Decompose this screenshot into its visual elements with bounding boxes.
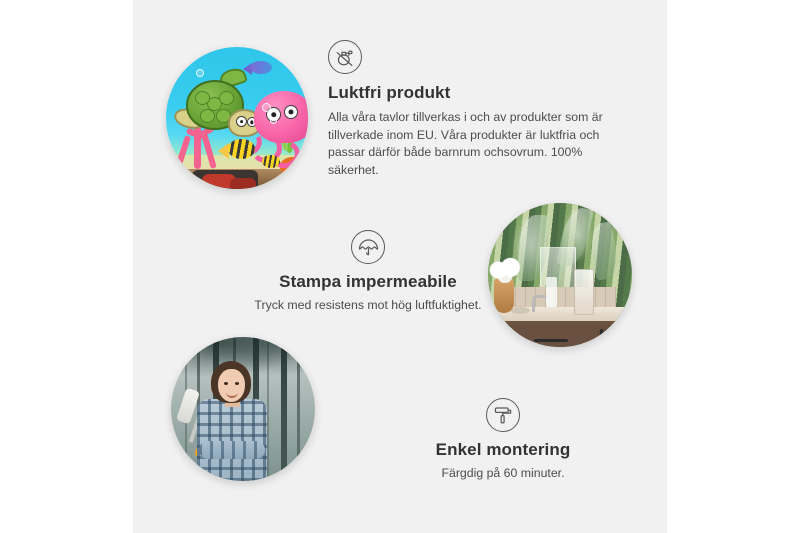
yellow-fish [228, 139, 255, 159]
bubble-3 [196, 69, 204, 77]
bubble-1 [262, 103, 271, 112]
bubble-2 [270, 117, 277, 124]
octopus-head [254, 91, 308, 143]
forest-tree-8 [297, 337, 300, 481]
vanity-cabinet [504, 321, 632, 347]
blue-fish [250, 61, 272, 74]
feature-easy-mounting: Enkel montering Färgdig på 60 minuter. [383, 398, 623, 483]
paint-roller-icon [486, 398, 520, 432]
door-handle [600, 329, 603, 347]
vanity-drawer [510, 329, 598, 347]
feature-odour-free: Luktfri produkt Alla våra tavlor tillver… [328, 40, 628, 179]
umbrella-icon [351, 230, 385, 264]
image-forest-mural [171, 337, 315, 481]
woman-torso [197, 399, 267, 481]
feature-body: Tryck med resistens mot hög luftfuktighe… [193, 297, 543, 315]
toiletry-bottle [574, 269, 594, 315]
no-fragrance-icon [328, 40, 362, 74]
forest-tree-7 [281, 337, 287, 481]
soap-dispenser [546, 277, 557, 307]
woman-crossed-arms [199, 441, 265, 459]
feature-title: Stampa impermeabile [193, 272, 543, 292]
yellow-fish-small [262, 155, 280, 168]
feature-body: Alla våra tavlor tillverkas i och av pro… [328, 109, 628, 179]
sea-red-rock-2 [230, 178, 256, 189]
feature-title: Luktfri produkt [328, 83, 628, 103]
infographic-stage: Luktfri produkt Alla våra tavlor tillver… [0, 0, 800, 533]
forest-tree-6 [267, 337, 269, 481]
drawer-handle [534, 339, 568, 342]
feature-body: Färgdig på 60 minuter. [383, 465, 623, 483]
content-panel: Luktfri produkt Alla våra tavlor tillver… [133, 0, 667, 533]
feature-title: Enkel montering [383, 440, 623, 460]
image-sea-mural [166, 47, 308, 189]
sea-coral [176, 125, 222, 169]
feature-waterproof-print: Stampa impermeabile Tryck med resistens … [193, 230, 543, 315]
